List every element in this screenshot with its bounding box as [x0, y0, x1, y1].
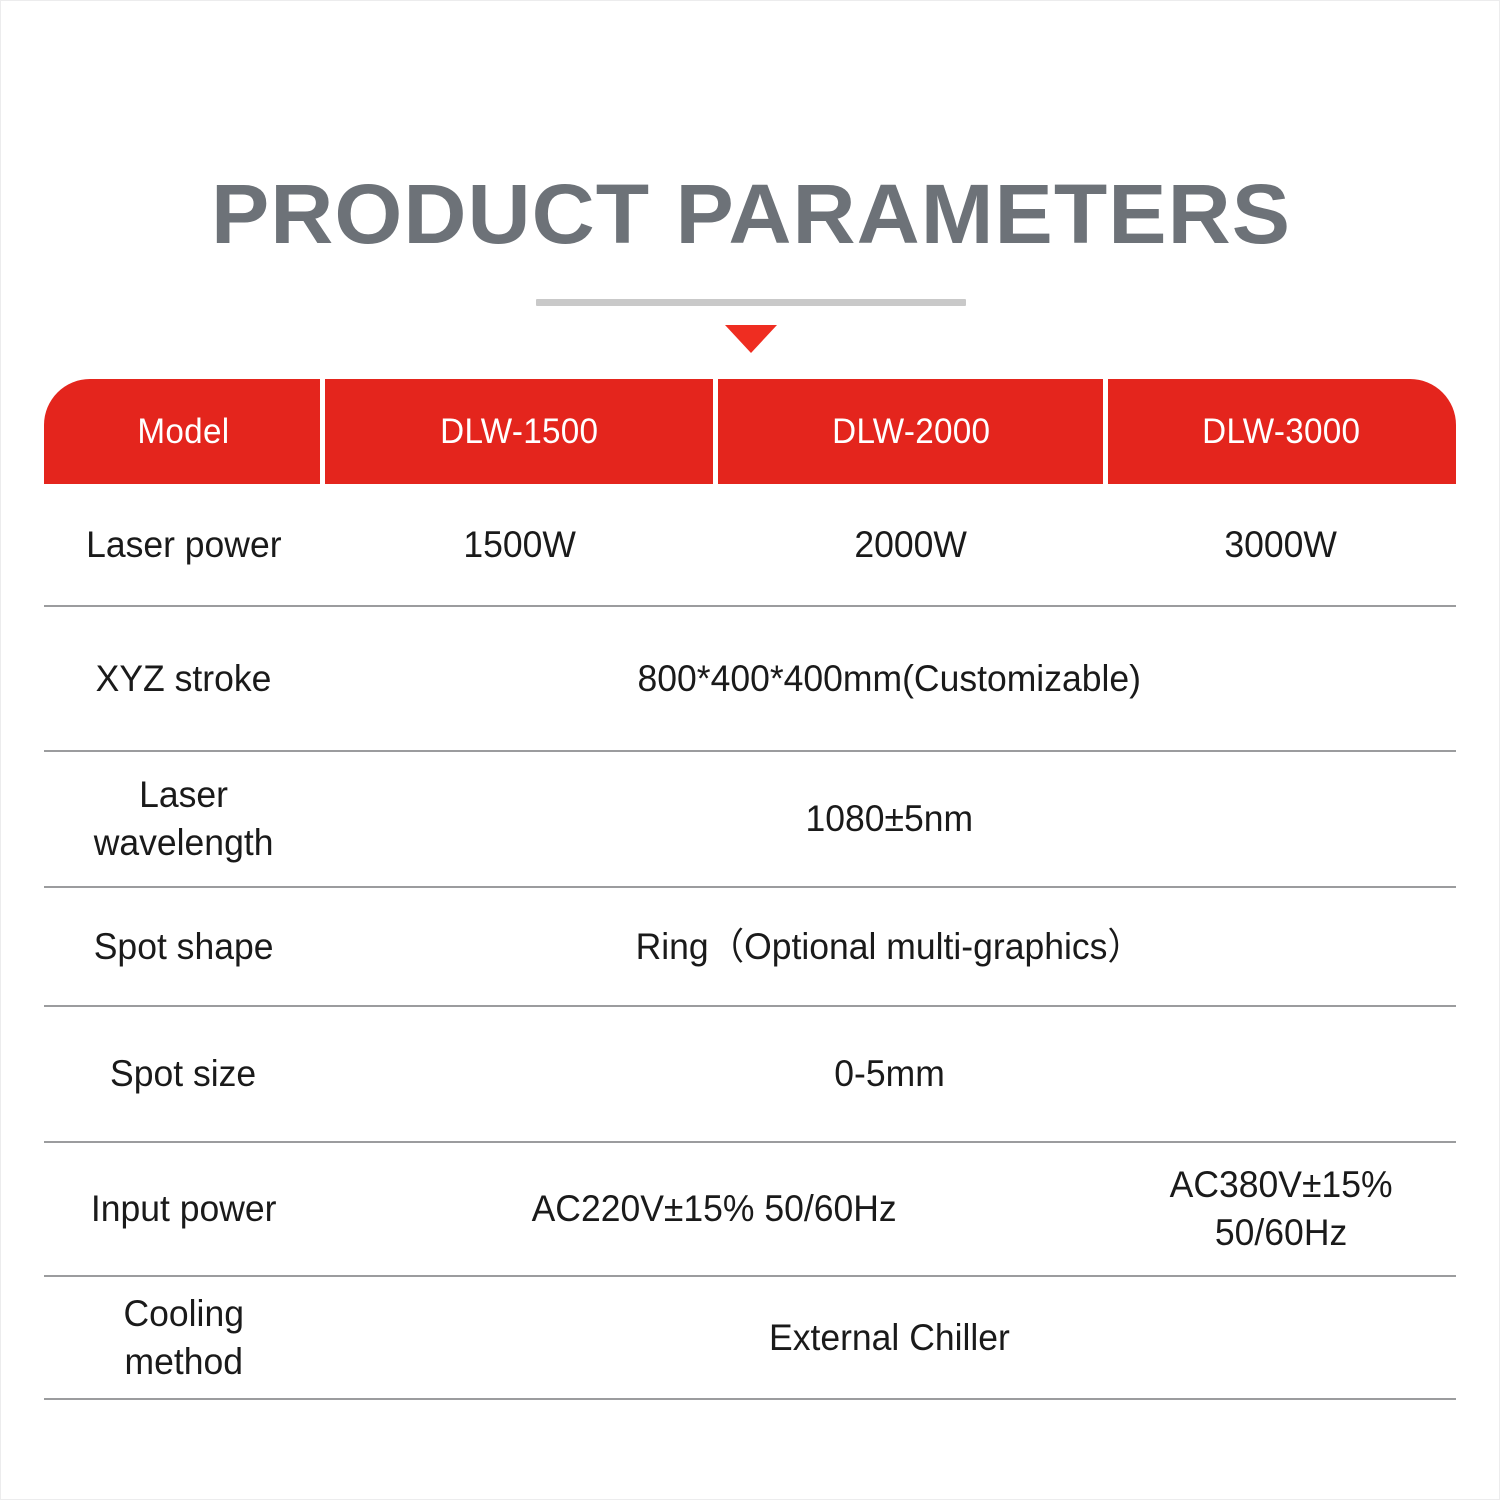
table-header-label-dlw1500: DLW-1500: [440, 412, 598, 452]
table-row: Spot shape Ring（Optional multi-graphics）: [44, 888, 1456, 1007]
row-value-input-power-220v: AC220V±15% 50/60Hz: [323, 1186, 1106, 1232]
table-header-cell-dlw1500: DLW-1500: [323, 379, 716, 484]
row-label-spot-shape: Spot shape: [44, 924, 323, 970]
triangle-down-icon: [725, 325, 777, 353]
row-value-xyz-stroke: 800*400*400mm(Customizable): [323, 656, 1456, 702]
row-value-cooling-method: External Chiller: [323, 1315, 1456, 1361]
title-block: PRODUCT PARAMETERS: [1, 169, 1500, 353]
table-header-cell-dlw2000: DLW-2000: [716, 379, 1106, 484]
title-divider-rule: [536, 299, 966, 306]
table-header-cell-dlw3000: DLW-3000: [1106, 379, 1456, 484]
table-header-cell-model: Model: [44, 379, 323, 484]
table-row: Input power AC220V±15% 50/60Hz AC380V±15…: [44, 1143, 1456, 1277]
table-row: Spot size 0-5mm: [44, 1007, 1456, 1143]
row-label-xyz-stroke: XYZ stroke: [44, 656, 323, 702]
row-value-input-power-380v-line2: 50/60Hz: [1215, 1212, 1347, 1253]
row-label-input-power: Input power: [44, 1186, 323, 1232]
row-label-cooling-method-line2: method: [124, 1341, 242, 1382]
row-value-laser-power-dlw2000: 2000W: [716, 522, 1106, 568]
row-label-laser-wavelength: Laser wavelength: [44, 771, 323, 867]
table-row: Cooling method External Chiller: [44, 1277, 1456, 1400]
row-label-laser-wavelength-line2: wavelength: [94, 822, 274, 863]
row-label-cooling-method-line1: Cooling: [123, 1293, 243, 1334]
specs-table: Model DLW-1500 DLW-2000 DLW-3000 Laser p…: [44, 379, 1456, 1400]
row-label-laser-power: Laser power: [44, 522, 323, 568]
row-value-laser-power-dlw3000: 3000W: [1106, 522, 1456, 568]
row-value-input-power-380v: AC380V±15% 50/60Hz: [1106, 1161, 1456, 1257]
table-header-label-model: Model: [137, 412, 229, 452]
row-value-input-power-380v-line1: AC380V±15%: [1170, 1164, 1393, 1205]
row-value-laser-power-dlw1500: 1500W: [323, 522, 716, 568]
row-label-cooling-method: Cooling method: [44, 1290, 323, 1386]
row-value-spot-shape: Ring（Optional multi-graphics）: [323, 924, 1456, 970]
page-title: PRODUCT PARAMETERS: [0, 169, 1500, 259]
table-header-label-dlw2000: DLW-2000: [832, 412, 990, 452]
product-parameters-page: PRODUCT PARAMETERS Model DLW-1500 DLW-20…: [0, 0, 1500, 1500]
row-label-spot-size: Spot size: [44, 1051, 323, 1097]
table-header-label-dlw3000: DLW-3000: [1202, 412, 1360, 452]
table-row: Laser power 1500W 2000W 3000W: [44, 484, 1456, 607]
table-row: Laser wavelength 1080±5nm: [44, 752, 1456, 888]
table-header-row: Model DLW-1500 DLW-2000 DLW-3000: [44, 379, 1456, 484]
row-value-spot-size: 0-5mm: [323, 1051, 1456, 1097]
row-label-laser-wavelength-line1: Laser: [139, 774, 228, 815]
row-value-laser-wavelength: 1080±5nm: [323, 796, 1456, 842]
table-row: XYZ stroke 800*400*400mm(Customizable): [44, 607, 1456, 752]
